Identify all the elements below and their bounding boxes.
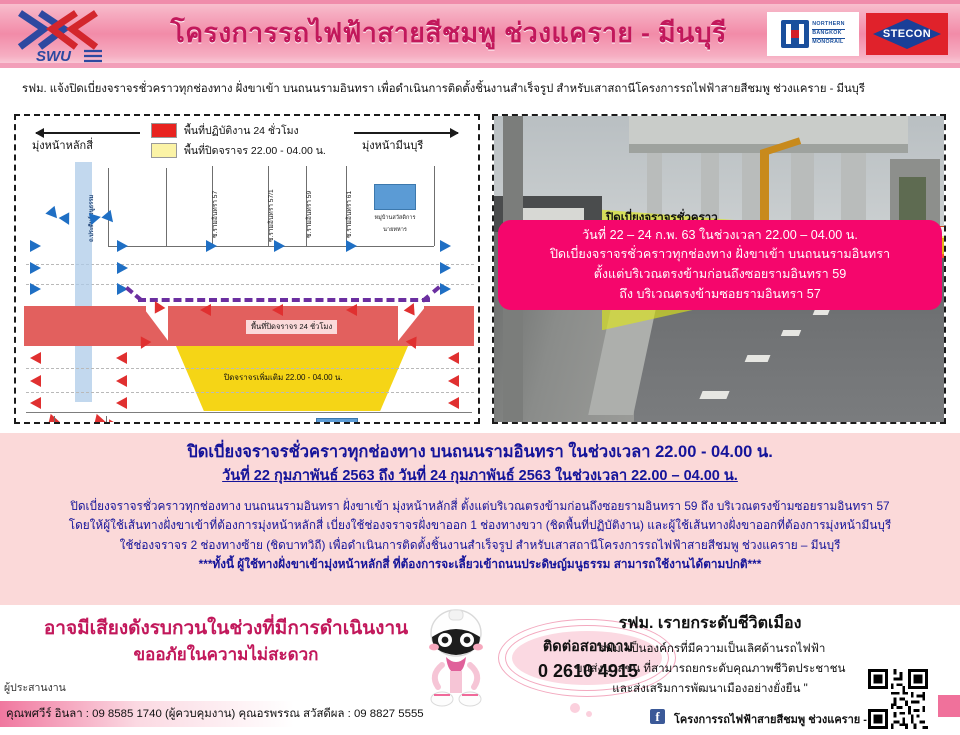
legend-item: พื้นที่ปิดจราจร 22.00 - 04.00 น. (151, 142, 326, 159)
soi-label-1: ซ.รามอินทรา 57 (209, 191, 220, 238)
nbm-line-1: NORTHERN (812, 21, 844, 30)
banner-line-3: ตั้งแต่บริเวณตรงข้ามก่อนถึงซอยรามอินทรา … (594, 265, 847, 285)
coordinator-label: ผู้ประสานงาน (4, 679, 66, 696)
legend-label-red: พื้นที่ปฏิบัติงาน 24 ชั่วโมง (184, 122, 299, 139)
yellow-band-caption: ปิดจราจรเพิ่มเติม 22.00 - 04.00 น. (224, 371, 343, 384)
nbm-line-3: MONORAIL (812, 39, 844, 47)
direction-label-right: มุ่งหน้ามีนบุรี (362, 136, 423, 154)
body-note: ***ทั้งนี้ ผู้ใช้ทางฝั่งขาเข้ามุ่งหน้าหล… (0, 555, 960, 574)
coordinator-bar: คุณพศวีร์ อินลา : 09 8585 1740 (ผู้ควบคุ… (0, 701, 490, 727)
page-title: โครงการรถไฟฟ้าสายสีชมพู ช่วงแคราย - มีนบ… (130, 19, 767, 49)
direction-label-left: มุ่งหน้าหลักสี่ (32, 136, 93, 154)
facebook-icon[interactable]: f (650, 709, 665, 724)
footer-left: อาจมีเสียงดังรบกวนในช่วงที่มีการดำเนินงา… (0, 605, 490, 735)
direction-arrow-left (36, 132, 140, 134)
announcement-body: ปิดเบี่ยงจราจรชั่วคราวทุกช่องทาง บนถนนรา… (0, 433, 960, 605)
footer-right: ติดต่อสอบถาม 0 2610 4915 รฟม. เรายกระดับ… (490, 605, 960, 735)
slogan-line-2: ขนส่งมวลชน ที่สามารถยกระดับคุณภาพชีวิตปร… (520, 659, 900, 679)
body-paragraph-1: ปิดเบี่ยงจราจรชั่วคราวทุกช่องทาง บนถนนรา… (0, 497, 960, 516)
page-header: SWU โครงการรถไฟฟ้าสายสีชมพู ช่วงแคราย - … (0, 0, 960, 68)
red-band-caption: พื้นที่ปิดจราจร 24 ชั่วโมง (246, 320, 337, 334)
office-block (316, 418, 358, 422)
svg-text:SWU: SWU (36, 48, 72, 65)
direction-arrow-right (354, 132, 458, 134)
red-closure-band-right (424, 306, 474, 346)
soi-label-4: ซ.รามอินทรา 61 (343, 191, 354, 238)
apology-line-2: ขออภัยในความไม่สะดวก (26, 641, 426, 668)
village-label-2: นายทหาร (356, 226, 434, 234)
body-headline: ปิดเบี่ยงจราจรชั่วคราวทุกช่องทาง บนถนนรา… (0, 441, 960, 463)
page-footer: อาจมีเสียงดังรบกวนในช่วงที่มีการดำเนินงา… (0, 605, 960, 735)
body-paragraph-2: โดยให้ผู้ใช้เส้นทางฝั่งขาเข้าที่ต้องการม… (0, 516, 960, 535)
body-date-line: วันที่ 22 กุมภาพันธ์ 2563 ถึง วันที่ 24 … (222, 468, 738, 484)
main-panel: มุ่งหน้าหลักสี่ มุ่งหน้ามีนบุรี พื้นที่ป… (0, 108, 960, 433)
legend-swatch-yellow (151, 143, 177, 158)
nbm-line-2: BANGKOK (812, 30, 844, 39)
pink-corner-tab (938, 695, 960, 717)
closure-info-banner: วันที่ 22 – 24 ก.พ. 63 ในช่วงเวลา 22.00 … (498, 220, 942, 310)
apology-line-1: อาจมีเสียงดังรบกวนในช่วงที่มีการดำเนินงา… (26, 613, 426, 643)
qr-code[interactable] (868, 669, 928, 729)
nbm-mark-icon (781, 20, 809, 48)
banner-line-4: ถึง บริเวณตรงข้ามซอยรามอินทรา 57 (619, 285, 821, 305)
legend-item: พื้นที่ปฏิบัติงาน 24 ชั่วโมง (151, 122, 326, 139)
slogan-title: รฟม. เรายกระดับชีวิตเมือง (530, 611, 890, 636)
announcement-subtitle-text: รฟม. แจ้งปิดเบี่ยงจราจรชั่วคราวทุกช่องทา… (22, 79, 865, 97)
coordinator-contacts: คุณพศวีร์ อินลา : 09 8585 1740 (ผู้ควบคุ… (6, 705, 424, 723)
village-label-1: หมู่บ้านสวัสดิการ (356, 214, 434, 222)
banner-line-1: วันที่ 22 – 24 ก.พ. 63 ในช่วงเวลา 22.00 … (582, 226, 858, 246)
northern-bangkok-monorail-logo: NORTHERN BANGKOK MONORAIL (767, 12, 859, 56)
slogan-line-1: "รฟม. เป็นองค์กรที่มีความเป็นเลิศด้านรถไ… (520, 639, 900, 659)
slogan-line-3: และส่งเสริมการพัฒนาเมืองอย่างยั่งยืน " (520, 679, 900, 699)
legend-swatch-red (151, 123, 177, 138)
soi-label-3: ซ.รามอินทรา 59 (303, 191, 314, 238)
mrta-logo: SWU (10, 3, 130, 65)
traffic-diagram: มุ่งหน้าหลักสี่ มุ่งหน้ามีนบุรี พื้นที่ป… (14, 114, 480, 424)
map-legend: พื้นที่ปฏิบัติงาน 24 ชั่วโมง พื้นที่ปิดจ… (151, 122, 326, 162)
village-block (374, 184, 416, 210)
soi-label-2: ซ.รามอินทรา 57/1 (265, 189, 276, 242)
body-paragraph-3: ใช้ช่องจราจร 2 ช่องทางซ้าย (ชิดบาทวิถี) … (0, 536, 960, 555)
announcement-subtitle: รฟม. แจ้งปิดเบี่ยงจราจรชั่วคราวทุกช่องทา… (0, 68, 960, 108)
mascot-icon (420, 607, 492, 711)
banner-line-2: ปิดเบี่ยงจราจรชั่วคราวทุกช่องทาง ฝั่งขาเ… (550, 245, 890, 265)
stecon-label: STECON (883, 28, 931, 40)
red-closure-band-left (24, 306, 146, 346)
legend-label-yellow: พื้นที่ปิดจราจร 22.00 - 04.00 น. (184, 142, 326, 159)
stecon-logo: STECON (866, 13, 948, 55)
facebook-page-name[interactable]: โครงการรถไฟฟ้าสายสีชมพู ช่วงแคราย - มีนบ… (674, 710, 898, 728)
